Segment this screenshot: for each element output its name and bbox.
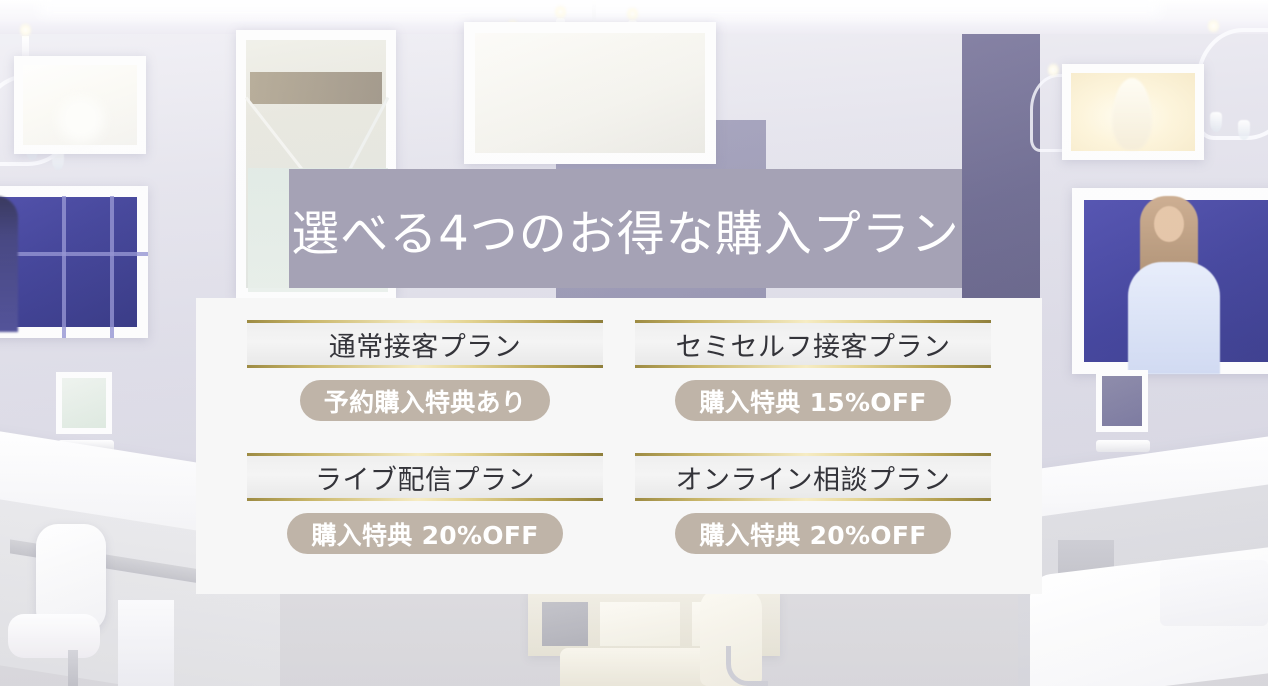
plan-benefit-label: 購入特典 15%OFF xyxy=(699,383,926,419)
chandelier-flame xyxy=(627,6,638,22)
salon-chair-center-leg xyxy=(726,646,768,686)
plan-benefit-label: 購入特典 20%OFF xyxy=(699,516,926,552)
screen-person-silhouette xyxy=(0,196,18,332)
hero-title-band: 選べる4つのお得な購入プラン xyxy=(289,169,962,288)
salon-chair-right xyxy=(1160,560,1268,626)
plans-panel: 通常接客プラン 予約購入特典あり セミセルフ接客プラン 購入特典 15%OFF … xyxy=(196,298,1042,594)
plan-benefit-label: 予約購入特典あり xyxy=(324,383,526,419)
screen-mullion xyxy=(110,196,114,338)
sconce-right-flame xyxy=(1208,18,1219,34)
sconce-right-crystal xyxy=(1238,120,1250,140)
plan-card[interactable]: セミセルフ接客プラン 購入特典 15%OFF xyxy=(632,320,994,447)
plan-benefit-badge: 予約購入特典あり xyxy=(300,380,550,421)
plan-title-bar: セミセルフ接客プラン xyxy=(635,320,991,368)
plan-card[interactable]: ライブ配信プラン 購入特典 20%OFF xyxy=(244,453,606,580)
plan-title: セミセルフ接客プラン xyxy=(676,325,951,364)
page-title: 選べる4つのお得な購入プラン xyxy=(291,194,960,264)
plan-benefit-badge: 購入特典 15%OFF xyxy=(675,380,950,421)
screen-woman-body xyxy=(1128,262,1220,374)
ceiling-light-glow xyxy=(40,0,1160,16)
framed-screen-left xyxy=(0,186,148,338)
plan-title-bar: 通常接客プラン xyxy=(247,320,603,368)
plan-card[interactable]: 通常接客プラン 予約購入特典あり xyxy=(244,320,606,447)
table-mirror-left xyxy=(56,372,112,434)
plan-card[interactable]: オンライン相談プラン 購入特典 20%OFF xyxy=(632,453,994,580)
plan-title-bar: ライブ配信プラン xyxy=(247,453,603,501)
mirror-reflection-blob xyxy=(58,96,104,142)
plans-grid: 通常接客プラン 予約購入特典あり セミセルフ接客プラン 購入特典 15%OFF … xyxy=(196,298,1042,594)
laundry-bin-left xyxy=(118,600,174,686)
bench-panel xyxy=(600,602,680,646)
plan-title: オンライン相談プラン xyxy=(676,458,951,497)
screen-mullion xyxy=(0,252,148,256)
plan-title-bar: オンライン相談プラン xyxy=(635,453,991,501)
table-mirror-right-base xyxy=(1096,440,1150,452)
plan-title: ライブ配信プラン xyxy=(315,458,535,497)
mirror-frame-center-top xyxy=(464,22,716,164)
plan-benefit-badge: 購入特典 20%OFF xyxy=(675,513,950,554)
sconce-left-flame xyxy=(20,22,31,38)
table-mirror-right xyxy=(1096,370,1148,432)
plan-benefit-label: 購入特典 20%OFF xyxy=(311,516,538,552)
sconce-right-crystal xyxy=(1210,112,1222,132)
screen-woman-face xyxy=(1154,206,1184,242)
plan-benefit-badge: 購入特典 20%OFF xyxy=(287,513,562,554)
sconce-right-secondary-flame xyxy=(1048,62,1059,78)
plan-title: 通常接客プラン xyxy=(329,325,522,364)
chandelier-flame xyxy=(555,4,566,20)
salon-chair-left-seat xyxy=(8,614,100,658)
screen-mullion xyxy=(62,196,66,338)
mirror-reflection-band xyxy=(250,72,382,104)
bench-panel-dark xyxy=(542,602,588,646)
salon-chair-left-post xyxy=(68,650,78,686)
